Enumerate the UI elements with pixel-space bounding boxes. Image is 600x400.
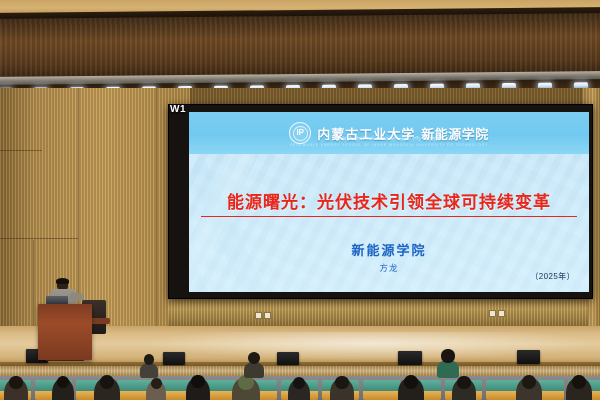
wall-outlet[interactable] — [498, 310, 505, 317]
slide-title-block: 能源曙光：光伏技术引领全球可持续变革 — [189, 188, 589, 217]
stage-monitor-speaker — [163, 352, 185, 365]
audience-member-head — [457, 376, 470, 389]
audience-member-head — [57, 376, 69, 388]
audience-member — [140, 363, 158, 378]
university-name-english: RENEWABLE ENERGY SCHOOL OF INNER MONGOLI… — [189, 143, 589, 147]
auditorium-photo: W1 IP 内蒙古工业大学 新能源学院 ᠥᠪᠥᠷ ᠮᠣᠩᠭᠣᠯ ᠤᠨ ᠠᠵᠤ ᠦ… — [0, 0, 600, 400]
presenter-hair — [56, 278, 69, 284]
slide-year: （2025年） — [530, 271, 575, 282]
audience-member-head — [441, 349, 454, 362]
audience-member-head — [191, 375, 204, 388]
stage-monitor-speaker — [517, 350, 540, 364]
wall-outlet[interactable] — [255, 312, 262, 319]
audience-member-head — [151, 378, 162, 389]
audience-area — [0, 376, 600, 400]
emblem-letter: IP — [296, 129, 304, 137]
audience-member — [244, 362, 264, 378]
wall-seam — [0, 150, 42, 151]
audience-member-head — [335, 376, 348, 389]
seat-backrest[interactable] — [363, 380, 400, 391]
audience-member — [437, 360, 459, 378]
slide-header-band: IP 内蒙古工业大学 新能源学院 ᠥᠪᠥᠷ ᠮᠣᠩᠭᠣᠯ ᠤᠨ ᠠᠵᠤ ᠦᠢᠯᠡ… — [189, 112, 589, 154]
stage-monitor-speaker — [277, 352, 299, 365]
stage-back-wainscot — [168, 296, 588, 328]
stage-monitor-speaker — [398, 351, 422, 365]
wall-outlet[interactable] — [489, 310, 496, 317]
audience-member-head — [9, 376, 22, 389]
presentation-slide: IP 内蒙古工业大学 新能源学院 ᠥᠪᠥᠷ ᠮᠣᠩᠭᠣᠯ ᠤᠨ ᠠᠵᠤ ᠦᠢᠯᠡ… — [189, 112, 589, 292]
title-underline-rule — [201, 216, 577, 217]
audience-member-head — [293, 377, 305, 389]
wall-seam — [156, 88, 157, 350]
slide-subtitle: 新能源学院 — [189, 240, 589, 259]
wooden-lectern — [38, 304, 92, 360]
slide-title: 能源曙光：光伏技术引领全球可持续变革 — [189, 188, 589, 213]
projector-input-label: W1 — [170, 104, 186, 115]
wall-outlet[interactable] — [264, 312, 271, 319]
seat-cushion[interactable] — [363, 391, 400, 400]
university-name-mongolian: ᠥᠪᠥᠷ ᠮᠣᠩᠭᠣᠯ ᠤᠨ ᠠᠵᠤ ᠦᠢᠯᠡᠳᠪᠦᠷᠢ ᠶᠡᠬᠡ ᠰᠤᠷᠭᠠᠭ… — [189, 134, 589, 142]
wall-seam — [0, 238, 78, 239]
projection-screen[interactable]: IP 内蒙古工业大学 新能源学院 ᠥᠪᠥᠷ ᠮᠣᠩᠭᠣᠯ ᠤᠨ ᠠᠵᠤ ᠦᠢᠯᠡ… — [168, 104, 593, 299]
slide-author: 方龙 — [189, 262, 589, 274]
